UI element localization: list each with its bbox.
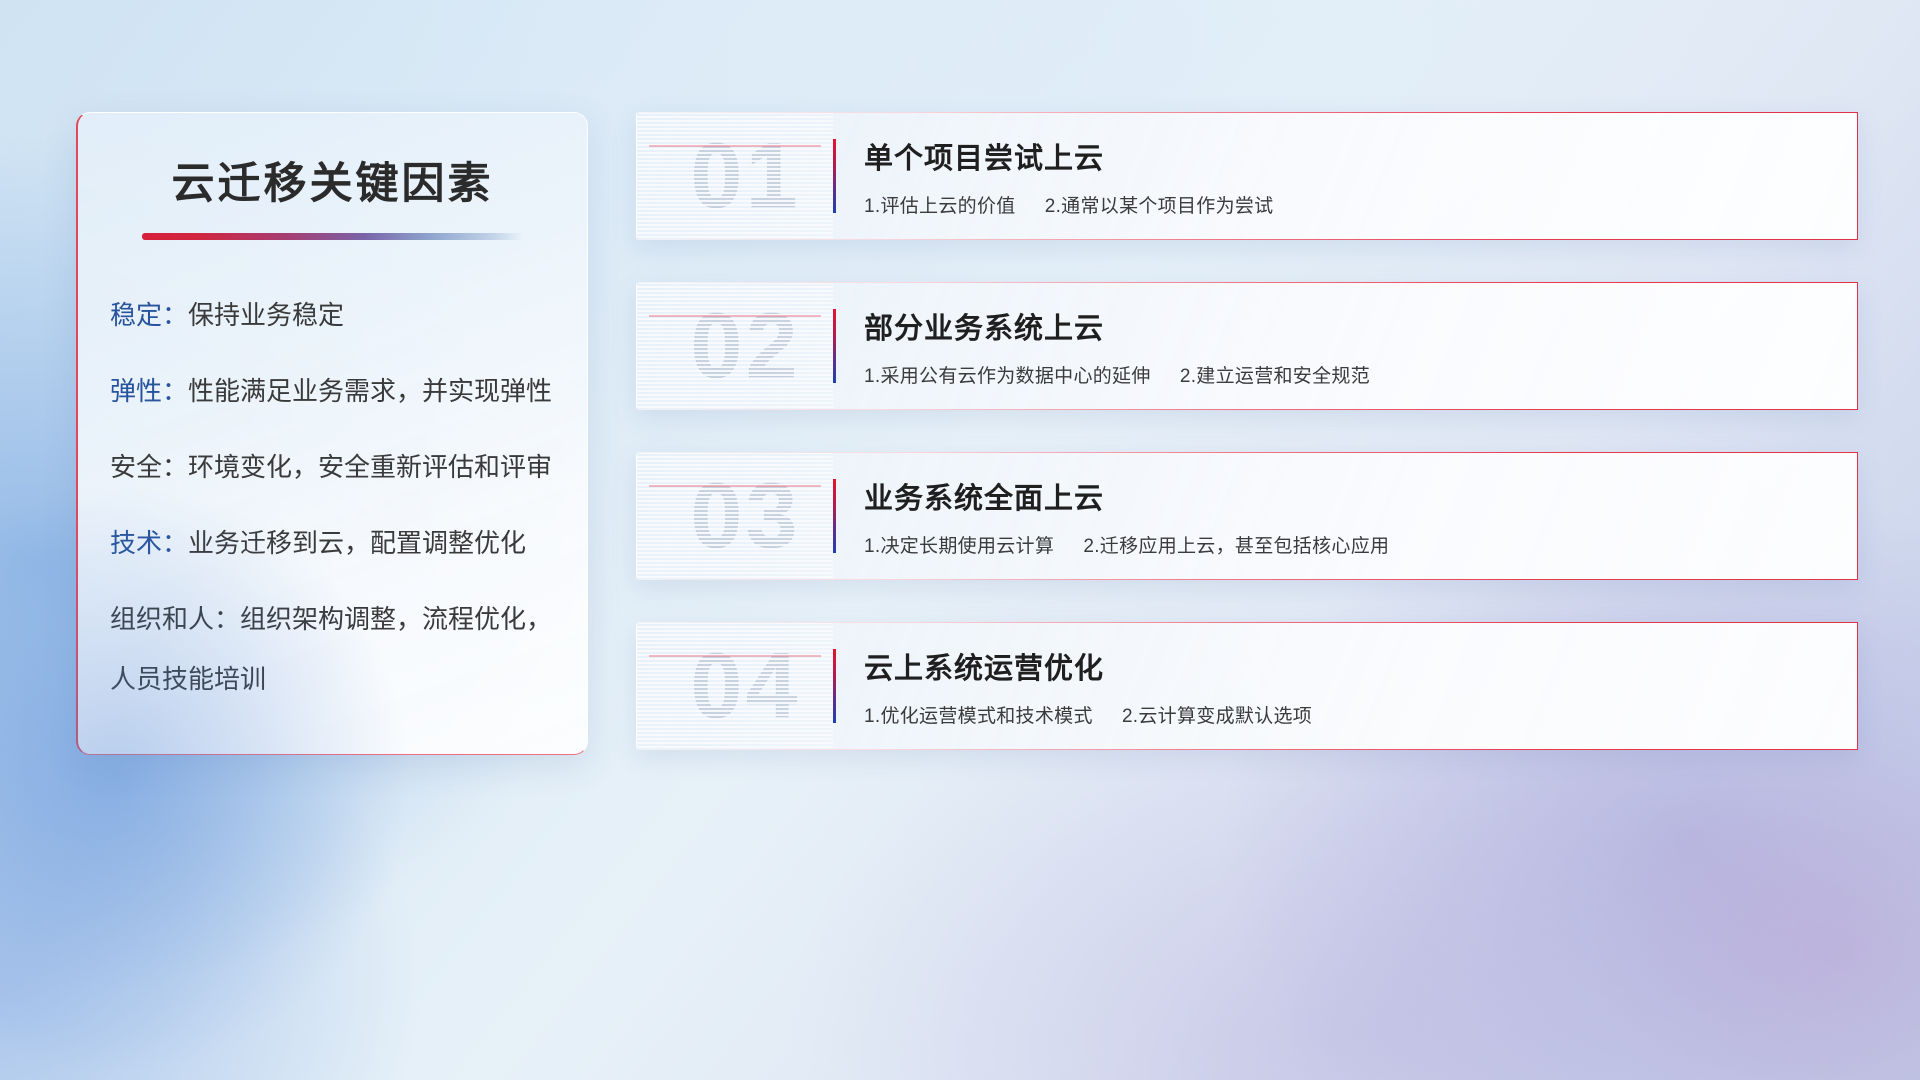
step-desc-part-2: 2.建立运营和安全规范 — [1180, 366, 1370, 387]
factor-description: 组织架构调整，流程优化， — [240, 606, 552, 632]
list-item: 组织和人： 组织架构调整，流程优化， — [110, 606, 587, 632]
step-text-block: 单个项目尝试上云 1.评估上云的价值 2.通常以某个项目作为尝试 — [864, 135, 1857, 218]
list-item: 技术： 业务迁移到云，配置调整优化 — [110, 530, 587, 556]
factor-description: 人员技能培训 — [110, 666, 266, 692]
step-number-03: 03 — [637, 470, 833, 562]
step-desc-part-1: 1.采用公有云作为数据中心的延伸 — [864, 366, 1151, 387]
key-factors-panel: 云迁移关键因素 稳定： 保持业务稳定 弹性： 性能满足业务需求，并实现弹性 安全… — [76, 112, 588, 755]
step-description: 1.决定长期使用云计算 2.迁移应用上云，甚至包括核心应用 — [864, 531, 1833, 558]
factor-description: 性能满足业务需求，并实现弹性 — [188, 378, 552, 404]
step-card-01[interactable]: 01 单个项目尝试上云 1.评估上云的价值 2.通常以某个项目作为尝试 — [636, 112, 1858, 240]
factor-description: 环境变化，安全重新评估和评审 — [188, 454, 552, 480]
factor-label: 组织和人： — [110, 606, 240, 632]
slide-canvas: 云迁移关键因素 稳定： 保持业务稳定 弹性： 性能满足业务需求，并实现弹性 安全… — [0, 0, 1920, 1080]
step-desc-part-2: 2.迁移应用上云，甚至包括核心应用 — [1083, 536, 1389, 557]
factor-label: 稳定： — [110, 302, 188, 328]
list-item-continuation: 人员技能培训 — [110, 666, 587, 692]
step-description: 1.采用公有云作为数据中心的延伸 2.建立运营和安全规范 — [864, 361, 1833, 388]
step-divider — [833, 649, 836, 723]
factor-label: 安全： — [110, 454, 188, 480]
factor-description: 保持业务稳定 — [188, 302, 344, 328]
step-description: 1.评估上云的价值 2.通常以某个项目作为尝试 — [864, 191, 1833, 218]
step-title: 业务系统全面上云 — [864, 475, 1833, 517]
factor-description: 业务迁移到云，配置调整优化 — [188, 530, 526, 556]
step-text-block: 部分业务系统上云 1.采用公有云作为数据中心的延伸 2.建立运营和安全规范 — [864, 305, 1857, 388]
step-description: 1.优化运营模式和技术模式 2.云计算变成默认选项 — [864, 701, 1833, 728]
factor-label: 技术： — [110, 530, 188, 556]
step-divider — [833, 139, 836, 213]
step-number-04: 04 — [637, 640, 833, 732]
step-title: 部分业务系统上云 — [864, 305, 1833, 347]
step-number-01: 01 — [637, 130, 833, 222]
step-title: 云上系统运营优化 — [864, 645, 1833, 687]
step-card-03[interactable]: 03 业务系统全面上云 1.决定长期使用云计算 2.迁移应用上云，甚至包括核心应… — [636, 452, 1858, 580]
migration-steps-list: 01 单个项目尝试上云 1.评估上云的价值 2.通常以某个项目作为尝试 02 部… — [636, 112, 1858, 792]
list-item: 稳定： 保持业务稳定 — [110, 302, 587, 328]
step-divider — [833, 309, 836, 383]
step-desc-part-2: 2.云计算变成默认选项 — [1122, 706, 1312, 727]
factor-list: 稳定： 保持业务稳定 弹性： 性能满足业务需求，并实现弹性 安全： 环境变化，安… — [110, 302, 587, 692]
factor-label: 弹性： — [110, 378, 188, 404]
step-desc-part-1: 1.评估上云的价值 — [864, 196, 1016, 217]
title-underline-rule — [142, 233, 524, 240]
page-title: 云迁移关键因素 — [78, 149, 587, 211]
step-text-block: 云上系统运营优化 1.优化运营模式和技术模式 2.云计算变成默认选项 — [864, 645, 1857, 728]
step-desc-part-1: 1.优化运营模式和技术模式 — [864, 706, 1093, 727]
list-item: 安全： 环境变化，安全重新评估和评审 — [110, 454, 587, 480]
step-desc-part-2: 2.通常以某个项目作为尝试 — [1045, 196, 1274, 217]
step-text-block: 业务系统全面上云 1.决定长期使用云计算 2.迁移应用上云，甚至包括核心应用 — [864, 475, 1857, 558]
list-item: 弹性： 性能满足业务需求，并实现弹性 — [110, 378, 587, 404]
step-number-02: 02 — [637, 300, 833, 392]
step-title: 单个项目尝试上云 — [864, 135, 1833, 177]
step-desc-part-1: 1.决定长期使用云计算 — [864, 536, 1054, 557]
step-divider — [833, 479, 836, 553]
step-card-02[interactable]: 02 部分业务系统上云 1.采用公有云作为数据中心的延伸 2.建立运营和安全规范 — [636, 282, 1858, 410]
step-card-04[interactable]: 04 云上系统运营优化 1.优化运营模式和技术模式 2.云计算变成默认选项 — [636, 622, 1858, 750]
